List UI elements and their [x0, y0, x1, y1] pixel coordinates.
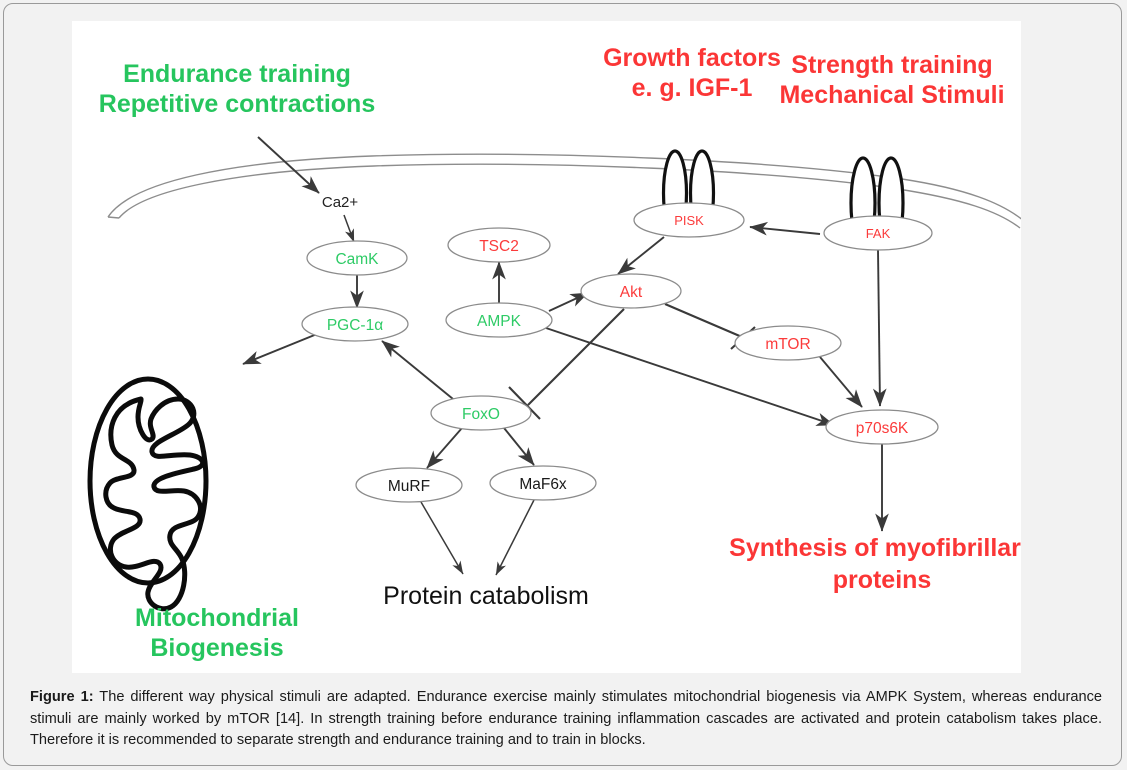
mitochondrion-icon [90, 379, 206, 609]
growth-factors-title: Growth factors e. g. IGF-1 [603, 44, 781, 102]
node-tsc2[interactable]: TSC2 [448, 228, 550, 262]
strength-title-line2: Mechanical Stimuli [779, 81, 1004, 109]
node-fak[interactable]: FAK [824, 216, 932, 250]
endurance-title-line2: Repetitive contractions [99, 90, 375, 118]
strength-stimulus-title: Strength training Mechanical Stimuli [779, 51, 1004, 109]
caption-text: The different way physical stimuli are a… [30, 689, 1102, 748]
protein-synthesis-label: Synthesis of myofibrillary proteins [729, 534, 1021, 594]
node-murf[interactable]: MuRF [356, 468, 462, 502]
mito-outcome-line2: Biogenesis [150, 634, 283, 662]
pathway-diagram: Endurance training Repetitive contractio… [72, 21, 1021, 673]
figure-caption: Figure 1: The different way physical sti… [30, 687, 1102, 752]
node-foxo[interactable]: FoxO [431, 396, 531, 430]
node-camk[interactable]: CamK [307, 241, 407, 275]
figure-page: Endurance training Repetitive contractio… [0, 0, 1127, 770]
node-akt-label: Akt [620, 284, 643, 301]
node-akt[interactable]: Akt [581, 274, 681, 308]
protein-catabolism-label: Protein catabolism [383, 582, 589, 610]
edge-foxo-to-murf [427, 428, 462, 468]
edge-maf6x-to-catabolism [496, 500, 534, 575]
node-fak-label: FAK [866, 226, 891, 241]
edge-ca2-to-camk [344, 215, 354, 242]
strength-title-line1: Strength training [791, 51, 992, 79]
node-tsc2-label: TSC2 [479, 238, 519, 255]
edge-fak-to-pisk [750, 227, 820, 234]
node-p70s6k[interactable]: p70s6K [826, 410, 938, 444]
synthesis-outcome-line1: Synthesis of myofibrillary [729, 534, 1021, 562]
node-mtor-label: mTOR [765, 336, 810, 353]
edge-foxo-to-pgc1a [382, 341, 453, 399]
node-camk-label: CamK [335, 251, 379, 268]
growth-title-line2: e. g. IGF-1 [632, 74, 753, 102]
growth-title-line1: Growth factors [603, 44, 781, 72]
mito-outcome-line1: Mitochondrial [135, 604, 299, 632]
figure-panel: Endurance training Repetitive contractio… [3, 3, 1122, 766]
node-ampk[interactable]: AMPK [446, 303, 552, 337]
node-pisk[interactable]: PISK [634, 203, 744, 237]
node-foxo-label: FoxO [462, 406, 500, 423]
node-maf6x-label: MaF6x [519, 476, 567, 493]
node-pgc1a-label: PGC-1α [327, 317, 383, 334]
node-p70s6k-label: p70s6K [856, 420, 909, 437]
edge-fak-to-p70s6k [878, 250, 880, 406]
edge-mtor-to-p70s6k [820, 357, 862, 407]
node-maf6x[interactable]: MaF6x [490, 466, 596, 500]
node-ampk-label: AMPK [477, 313, 522, 330]
node-pgc1a[interactable]: PGC-1α [302, 307, 408, 341]
endurance-stimulus-title: Endurance training Repetitive contractio… [99, 60, 375, 118]
edge-foxo-to-maf6x [504, 428, 534, 465]
node-murf-label: MuRF [388, 478, 430, 495]
edge-pisk-to-akt [618, 237, 664, 274]
edge-endurance-to-ca2 [258, 137, 319, 193]
endurance-title-line1: Endurance training [123, 60, 351, 88]
synthesis-outcome-line2: proteins [833, 566, 932, 594]
node-pisk-label: PISK [674, 213, 704, 228]
edge-pgc1a-to-mitochondrion [243, 334, 317, 364]
node-mtor[interactable]: mTOR [735, 326, 841, 360]
caption-label: Figure 1: [30, 689, 94, 705]
calcium-label: Ca2+ [322, 194, 359, 211]
figure-image-area: Endurance training Repetitive contractio… [72, 21, 1021, 673]
edge-murf-to-catabolism [421, 502, 463, 574]
mitochondrial-biogenesis-label: Mitochondrial Biogenesis [135, 604, 299, 662]
